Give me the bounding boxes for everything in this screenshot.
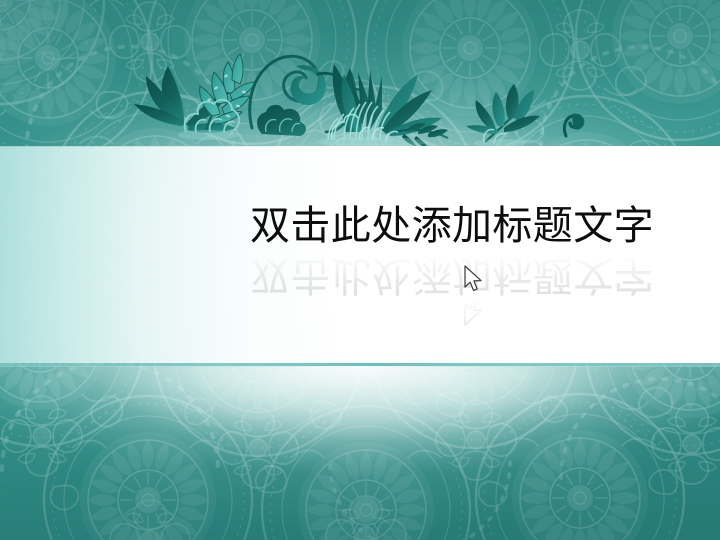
foliage-right-tendril (564, 114, 584, 136)
foliage-center-cluster (316, 64, 448, 148)
title-placeholder-text: 双击此处添加标题文字 (250, 203, 702, 249)
band-top-edge (0, 146, 720, 147)
presentation-slide: 双击此处添加标题文字 双击此处添加标题文字 (0, 0, 720, 540)
arrow-pointer-reflection-icon (463, 296, 485, 326)
top-floral-ornament (0, 0, 720, 152)
foliage-right-sprig (466, 84, 540, 147)
arrow-pointer-icon (463, 265, 485, 295)
band-under-glow (0, 366, 720, 486)
title-placeholder[interactable]: 双击此处添加标题文字 (250, 203, 702, 255)
